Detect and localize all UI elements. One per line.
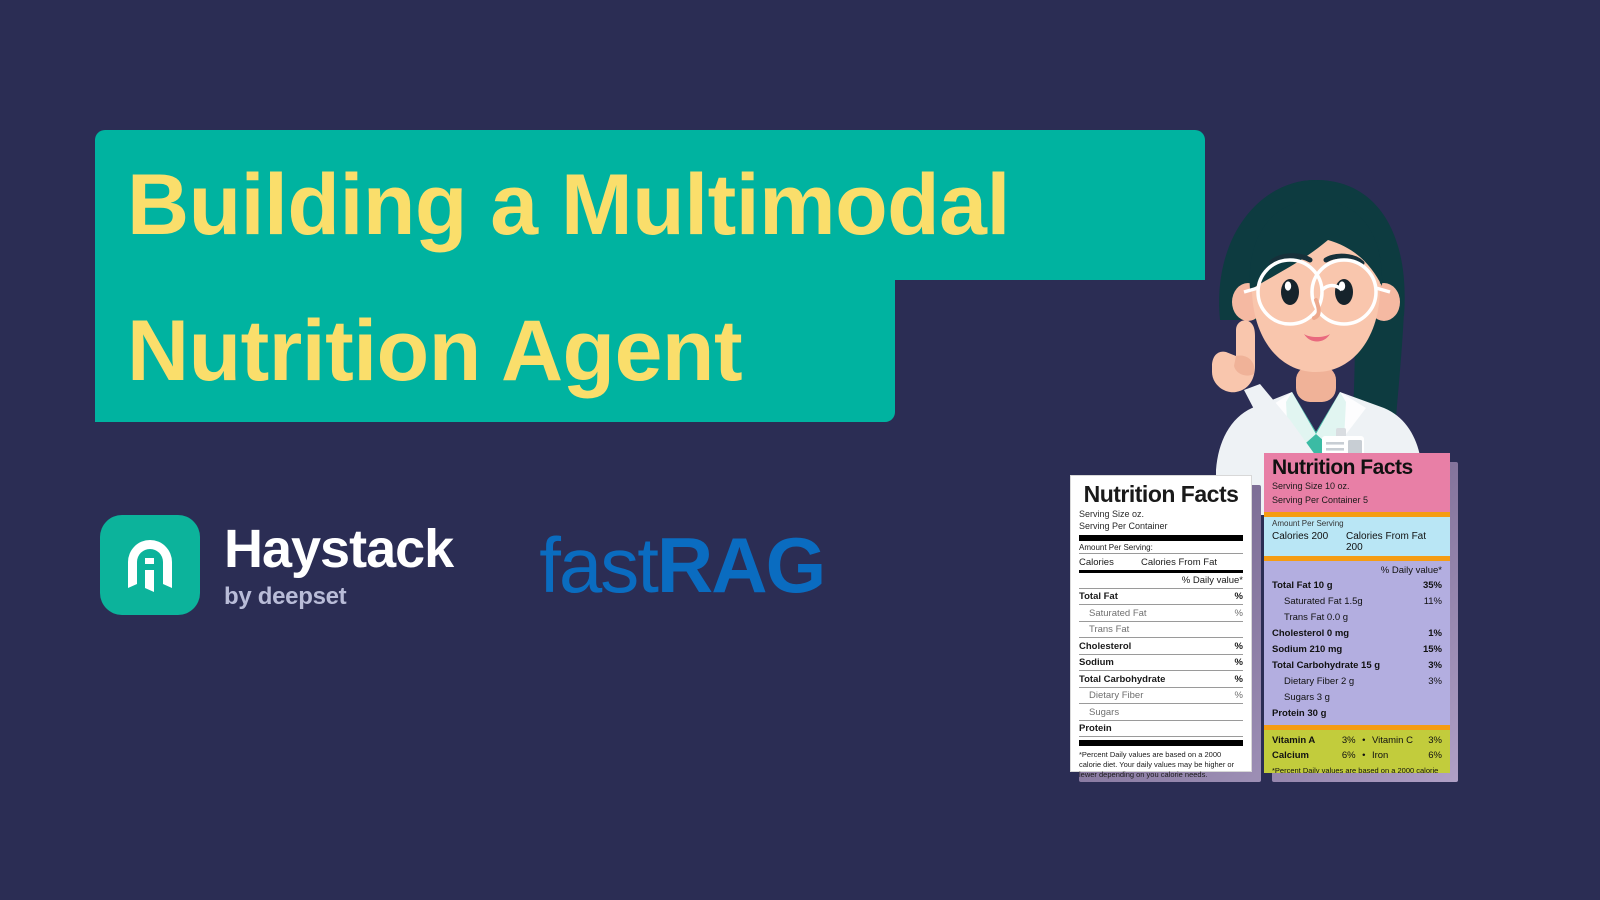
nutrient-daily-value: 3% <box>1428 660 1442 671</box>
badge-line-2 <box>1326 448 1344 451</box>
white-amount-per-serving-row: Amount Per Serving: <box>1079 541 1243 553</box>
nutrient-name: Trans Fat <box>1089 624 1129 635</box>
color-calories-label: Calories 200 <box>1272 531 1346 553</box>
nutrient-name: Sugars <box>1089 707 1119 718</box>
haystack-mark <box>100 515 200 615</box>
table-row: Sodium% <box>1079 655 1243 671</box>
haystack-arch-icon <box>119 534 181 596</box>
nutrient-daily-value: 11% <box>1424 596 1442 607</box>
white-calories-label: Calories <box>1079 557 1114 568</box>
table-row: Saturated Fat 1.5g11% <box>1272 593 1442 609</box>
table-row: Protein 30 g <box>1272 705 1442 721</box>
color-label-header: Nutrition Facts Serving Size 10 oz. Serv… <box>1264 453 1450 512</box>
pointing-hand <box>1212 320 1255 392</box>
color-label-body: % Daily value* Total Fat 10 g35%Saturate… <box>1264 561 1450 725</box>
nutrient-name: Sodium 210 mg <box>1272 644 1342 655</box>
haystack-logo[interactable]: Haystack by deepset <box>100 515 453 615</box>
vitamin-name-2: Vitamin C <box>1372 735 1428 746</box>
color-amount-band: Amount Per Serving Calories 200 Calories… <box>1264 517 1450 556</box>
fastrag-thin: fast <box>539 521 657 609</box>
nutrient-name: Dietary Fiber 2 g <box>1284 676 1354 687</box>
nutrient-daily-value: % <box>1235 591 1243 602</box>
white-label-title: Nutrition Facts <box>1079 483 1243 506</box>
color-footnote: *Percent Daily values are based on a 200… <box>1272 763 1442 773</box>
color-calories-from-fat: Calories From Fat 200 <box>1346 531 1442 553</box>
nutrient-name: Sugars 3 g <box>1284 692 1330 703</box>
nutrient-name: Cholesterol <box>1079 641 1131 652</box>
nutrient-name: Total Fat <box>1079 591 1118 602</box>
table-row: Sugars 3 g <box>1272 689 1442 705</box>
vitamin-row: Vitamin A3%•Vitamin C3% <box>1272 733 1442 748</box>
white-daily-value-header-row: % Daily value* <box>1079 573 1243 588</box>
table-row: Cholesterol 0 mg1% <box>1272 625 1442 641</box>
nutrient-daily-value: % <box>1235 641 1243 652</box>
nutrient-name: Cholesterol 0 mg <box>1272 628 1349 639</box>
nutrient-name: Sodium <box>1079 657 1114 668</box>
color-vitamins-section: Vitamin A3%•Vitamin C3%Calcium6%•Iron6% … <box>1264 730 1450 773</box>
bullet-icon: • <box>1356 735 1372 746</box>
white-calories-row: Calories Calories From Fat <box>1079 554 1243 570</box>
eye-left-highlight <box>1285 281 1291 290</box>
nutrient-daily-value: 1% <box>1428 628 1442 639</box>
color-amount-per-serving: Amount Per Serving <box>1272 519 1442 528</box>
badge-line-1 <box>1326 442 1344 445</box>
table-row: Trans Fat <box>1079 622 1243 638</box>
fastrag-logo[interactable]: fastRAG <box>539 526 824 604</box>
nutrient-name: Total Fat 10 g <box>1272 580 1333 591</box>
title-banner-line2: Nutrition Agent <box>95 280 895 422</box>
nutrient-daily-value: % <box>1235 657 1243 668</box>
nutrient-daily-value: % <box>1235 674 1243 685</box>
white-nutrient-rows: Total Fat%Saturated Fat%Trans FatCholest… <box>1079 589 1243 738</box>
white-daily-value-header: % Daily value* <box>1182 575 1243 586</box>
white-amount-per-serving: Amount Per Serving: <box>1079 543 1153 552</box>
nutrient-name: Total Carbohydrate <box>1079 674 1165 685</box>
page-title-line1: Building a Multimodal <box>127 162 1010 248</box>
table-row: Total Carbohydrate% <box>1079 671 1243 687</box>
color-calories-row: Calories 200 Calories From Fat 200 <box>1272 528 1442 553</box>
row-divider <box>1079 736 1243 737</box>
bullet-icon: • <box>1356 750 1372 761</box>
nutrient-name: Total Carbohydrate 15 g <box>1272 660 1380 671</box>
color-serving-size: Serving Size 10 oz. <box>1272 480 1442 492</box>
color-daily-value-header: % Daily value* <box>1272 563 1442 577</box>
vitamin-name-1: Vitamin A <box>1272 735 1325 746</box>
nutrient-name: Saturated Fat 1.5g <box>1284 596 1363 607</box>
table-row: Total Carbohydrate 15 g3% <box>1272 657 1442 673</box>
table-row: Total Fat 10 g35% <box>1272 577 1442 593</box>
vitamin-row: Calcium6%•Iron6% <box>1272 748 1442 763</box>
fastrag-bold: RAG <box>657 521 824 609</box>
vitamin-pct-2: 3% <box>1428 735 1442 746</box>
nutrition-label-white: Nutrition Facts Serving Size oz. Serving… <box>1070 475 1252 772</box>
vitamin-pct-1: 6% <box>1325 750 1356 761</box>
table-row: Sugars <box>1079 704 1243 720</box>
white-serving-size: Serving Size oz. <box>1079 509 1243 521</box>
white-calories-from-fat: Calories From Fat <box>1141 557 1217 568</box>
nutrient-daily-value: % <box>1235 690 1243 701</box>
nutrient-name: Trans Fat 0.0 g <box>1284 612 1348 623</box>
title-banner: Building a Multimodal Nutrition Agent <box>95 130 1205 422</box>
nutrient-name: Protein <box>1079 723 1112 734</box>
table-row: Saturated Fat% <box>1079 605 1243 621</box>
nutrient-daily-value: 3% <box>1428 676 1442 687</box>
vitamin-pct-1: 3% <box>1325 735 1356 746</box>
nutrition-label-color: Nutrition Facts Serving Size 10 oz. Serv… <box>1264 453 1450 773</box>
nutrient-daily-value: % <box>1235 608 1243 619</box>
color-serving-per-container: Serving Per Container 5 <box>1272 494 1442 506</box>
nutrient-daily-value: 15% <box>1423 644 1442 655</box>
table-row: Dietary Fiber% <box>1079 688 1243 704</box>
haystack-name: Haystack <box>224 522 453 576</box>
haystack-byline: by deepset <box>224 585 453 609</box>
vitamin-name-1: Calcium <box>1272 750 1325 761</box>
white-footnote: *Percent Daily values are based on a 200… <box>1079 746 1243 780</box>
white-serving-per-container: Serving Per Container <box>1079 521 1243 533</box>
color-vitamin-rows: Vitamin A3%•Vitamin C3%Calcium6%•Iron6% <box>1272 733 1442 763</box>
color-nutrient-rows: Total Fat 10 g35%Saturated Fat 1.5g11%Tr… <box>1272 577 1442 721</box>
color-label-title: Nutrition Facts <box>1272 457 1442 478</box>
table-row: Cholesterol% <box>1079 638 1243 654</box>
title-banner-line1: Building a Multimodal <box>95 130 1205 280</box>
nutrient-name: Protein 30 g <box>1272 708 1326 719</box>
nutrient-name: Dietary Fiber <box>1089 690 1143 701</box>
table-row: Protein <box>1079 721 1243 737</box>
table-row: Trans Fat 0.0 g <box>1272 609 1442 625</box>
vitamin-name-2: Iron <box>1372 750 1428 761</box>
table-row: Sodium 210 mg15% <box>1272 641 1442 657</box>
nutrient-name: Saturated Fat <box>1089 608 1147 619</box>
haystack-wordmark: Haystack by deepset <box>224 522 453 609</box>
table-row: Dietary Fiber 2 g3% <box>1272 673 1442 689</box>
logo-row: Haystack by deepset fastRAG <box>100 515 824 615</box>
nutrient-daily-value: 35% <box>1423 580 1442 591</box>
page-title-line2: Nutrition Agent <box>127 308 742 394</box>
vitamin-pct-2: 6% <box>1428 750 1442 761</box>
slide-canvas: Building a Multimodal Nutrition Agent Ha… <box>0 0 1600 900</box>
table-row: Total Fat% <box>1079 589 1243 605</box>
